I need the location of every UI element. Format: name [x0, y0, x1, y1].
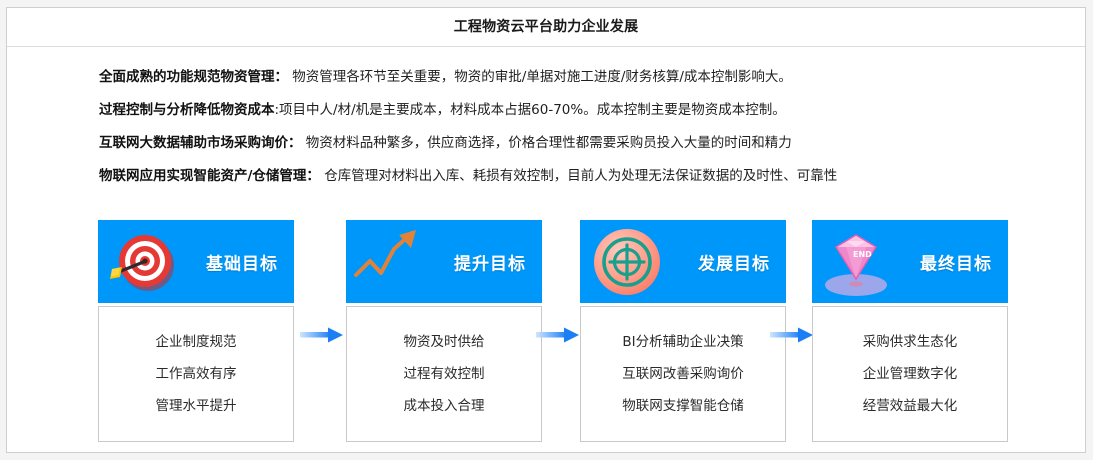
goal-item: 过程有效控制	[404, 358, 485, 390]
goal-card-body: 企业制度规范 工作高效有序 管理水平提升	[98, 306, 294, 442]
description-paragraph: 物联网应用实现智能资产/仓储管理： 仓库管理对材料出入库、耗损有效控制，目前人为…	[99, 160, 1085, 193]
flow-arrow-icon	[300, 325, 344, 345]
goal-item: 采购供求生态化	[863, 326, 958, 358]
description-paragraph: 过程控制与分析降低物资成本:项目中人/材/机是主要成本，材料成本占据60-70%…	[99, 94, 1085, 127]
goal-item: 工作高效有序	[156, 358, 237, 390]
paragraph-lead: 物联网应用实现智能资产/仓储管理：	[99, 168, 320, 184]
description-paragraph: 互联网大数据辅助市场采购询价： 物资材料品种繁多，供应商选择，价格合理性都需要采…	[99, 127, 1085, 160]
dartboard-target-icon	[106, 223, 184, 301]
goal-card-title: 提升目标	[454, 249, 526, 274]
goal-item: 成本投入合理	[404, 390, 485, 422]
gem-label: END	[853, 250, 872, 259]
goal-card-title: 最终目标	[920, 249, 992, 274]
goal-item: 物联网支撑智能仓储	[622, 390, 744, 422]
goal-card-improve[interactable]: 提升目标 物资及时供给 过程有效控制 成本投入合理	[346, 220, 542, 442]
goal-card-title: 发展目标	[698, 249, 770, 274]
goal-card-body: 物资及时供给 过程有效控制 成本投入合理	[346, 306, 542, 442]
rising-arrow-chart-icon	[354, 223, 432, 301]
diamond-gem-end-icon: END	[820, 223, 898, 301]
goal-item: BI分析辅助企业决策	[622, 326, 743, 358]
paragraph-rest: :项目中人/材/机是主要成本，材料成本占据60-70%。成本控制主要是物资成本控…	[275, 102, 786, 118]
paragraph-lead: 过程控制与分析降低物资成本	[99, 102, 275, 118]
goal-item: 企业制度规范	[156, 326, 237, 358]
crosshair-circle-icon	[588, 223, 666, 301]
goal-item: 企业管理数字化	[863, 358, 958, 390]
paragraph-lead: 全面成熟的功能规范物资管理：	[99, 69, 288, 85]
paragraph-lead: 互联网大数据辅助市场采购询价：	[99, 135, 302, 151]
goal-flow-diagram: 基础目标 企业制度规范 工作高效有序 管理水平提升	[7, 213, 1085, 453]
goal-item: 管理水平提升	[156, 390, 237, 422]
paragraph-rest: 物资材料品种繁多，供应商选择，价格合理性都需要采购员投入大量的时间和精力	[302, 135, 792, 151]
main-panel: 工程物资云平台助力企业发展 全面成熟的功能规范物资管理： 物资管理各环节至关重要…	[6, 7, 1086, 453]
page-title: 工程物资云平台助力企业发展	[7, 8, 1085, 47]
goal-card-final[interactable]: END 最终目标 采购供求生态化 企业管理数字化 经营效益最大化	[812, 220, 1008, 442]
goal-card-header: 提升目标	[346, 220, 542, 303]
screenshot-root: 工程物资云平台助力企业发展 全面成熟的功能规范物资管理： 物资管理各环节至关重要…	[0, 0, 1093, 460]
goal-item: 互联网改善采购询价	[622, 358, 744, 390]
goal-item: 物资及时供给	[404, 326, 485, 358]
goal-card-develop[interactable]: 发展目标 BI分析辅助企业决策 互联网改善采购询价 物联网支撑智能仓储	[580, 220, 786, 442]
goal-card-body: 采购供求生态化 企业管理数字化 经营效益最大化	[812, 306, 1008, 442]
description-block: 全面成熟的功能规范物资管理： 物资管理各环节至关重要，物资的审批/单据对施工进度…	[7, 47, 1085, 193]
flow-arrow-icon	[536, 325, 580, 345]
goal-card-title: 基础目标	[206, 249, 278, 274]
goal-card-body: BI分析辅助企业决策 互联网改善采购询价 物联网支撑智能仓储	[580, 306, 786, 442]
goal-card-basic[interactable]: 基础目标 企业制度规范 工作高效有序 管理水平提升	[98, 220, 294, 442]
goal-card-header: END 最终目标	[812, 220, 1008, 303]
goal-item: 经营效益最大化	[863, 390, 958, 422]
goal-card-header: 基础目标	[98, 220, 294, 303]
flow-arrow-icon	[770, 325, 814, 345]
paragraph-rest: 物资管理各环节至关重要，物资的审批/单据对施工进度/财务核算/成本控制影响大。	[288, 69, 792, 85]
description-paragraph: 全面成熟的功能规范物资管理： 物资管理各环节至关重要，物资的审批/单据对施工进度…	[99, 61, 1085, 94]
goal-card-header: 发展目标	[580, 220, 786, 303]
paragraph-rest: 仓库管理对材料出入库、耗损有效控制，目前人为处理无法保证数据的及时性、可靠性	[320, 168, 837, 184]
